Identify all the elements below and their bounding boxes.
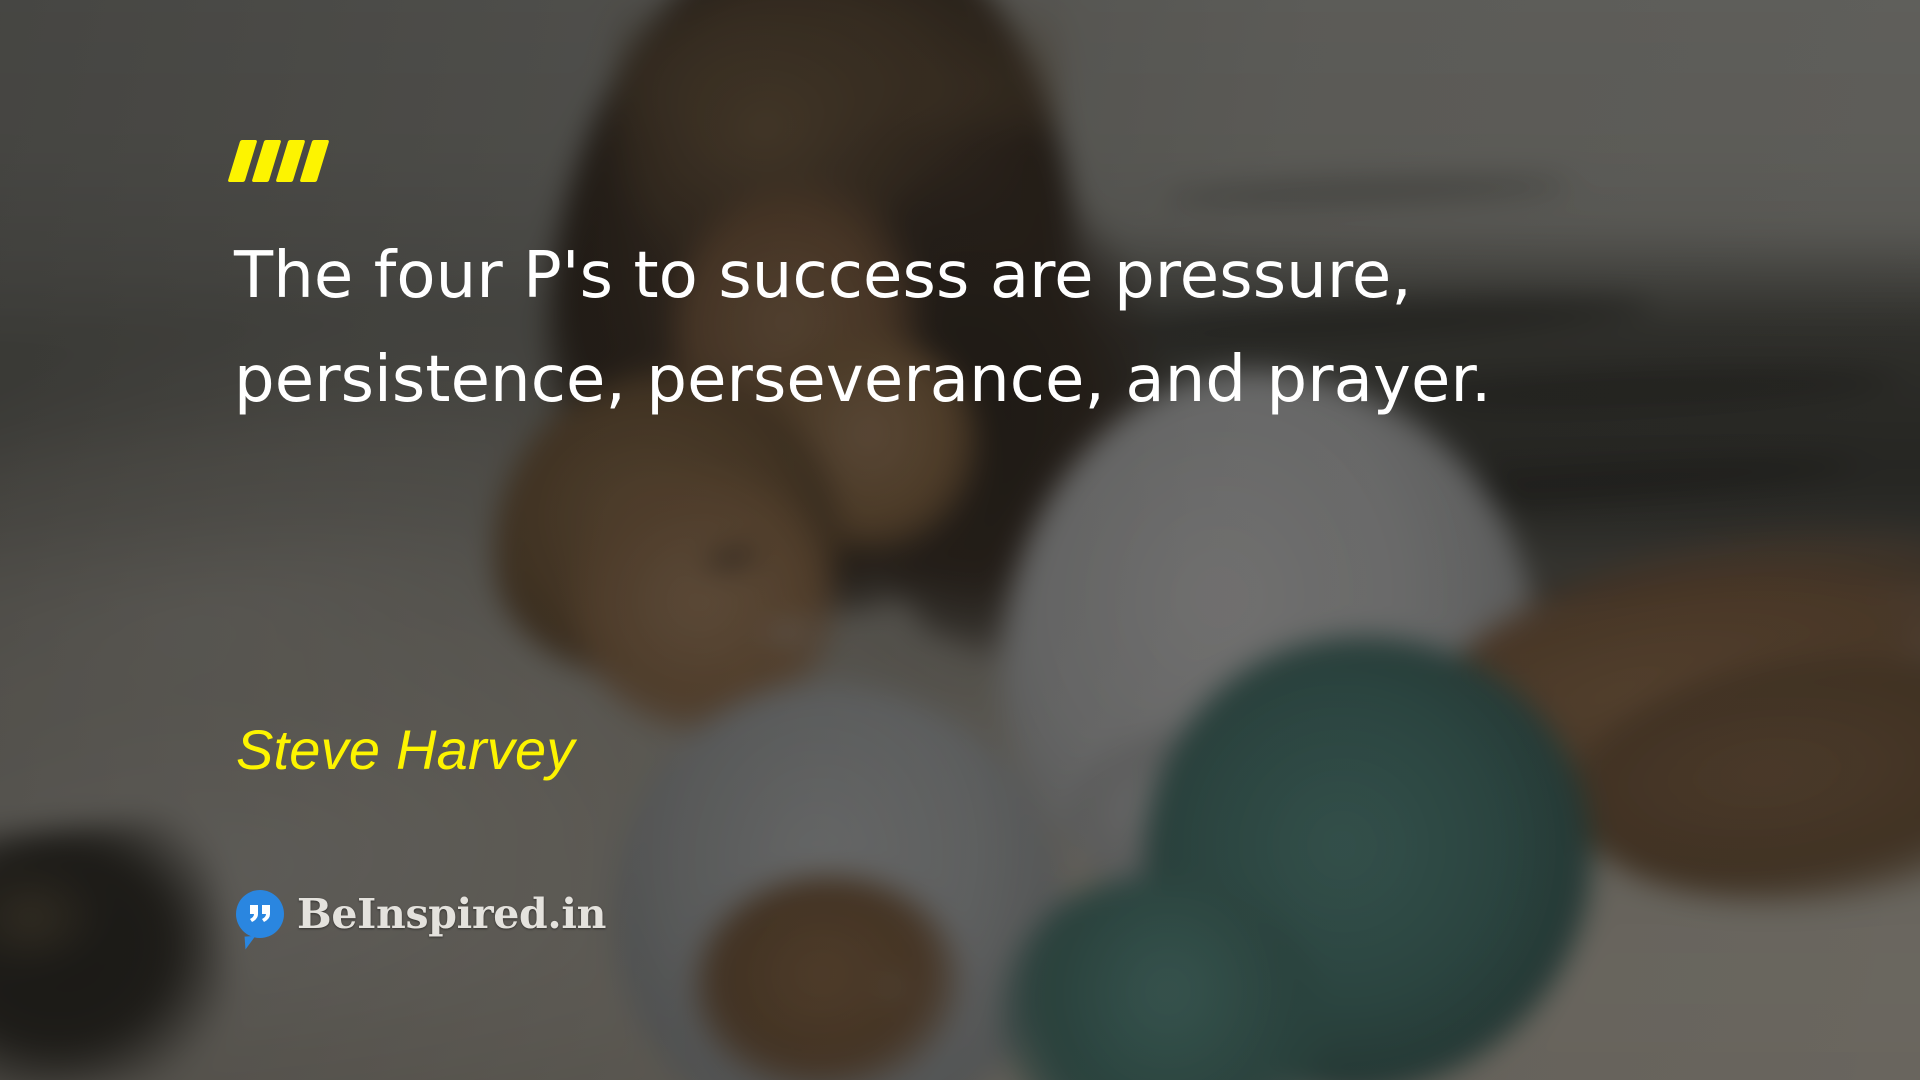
speech-bubble-quote-icon <box>236 890 284 938</box>
quote-slashes-icon <box>234 140 323 182</box>
quote-author: Steve Harvey <box>236 717 575 782</box>
quote-slash-bar <box>300 140 330 182</box>
quote-content: The four P's to success are pressure, pe… <box>0 0 1920 1080</box>
brand-name: BeInspired.in <box>297 890 606 938</box>
quote-text: The four P's to success are pressure, pe… <box>234 225 1654 432</box>
brand-logo[interactable]: BeInspired.in <box>236 890 606 938</box>
quote-card: The four P's to success are pressure, pe… <box>0 0 1920 1080</box>
